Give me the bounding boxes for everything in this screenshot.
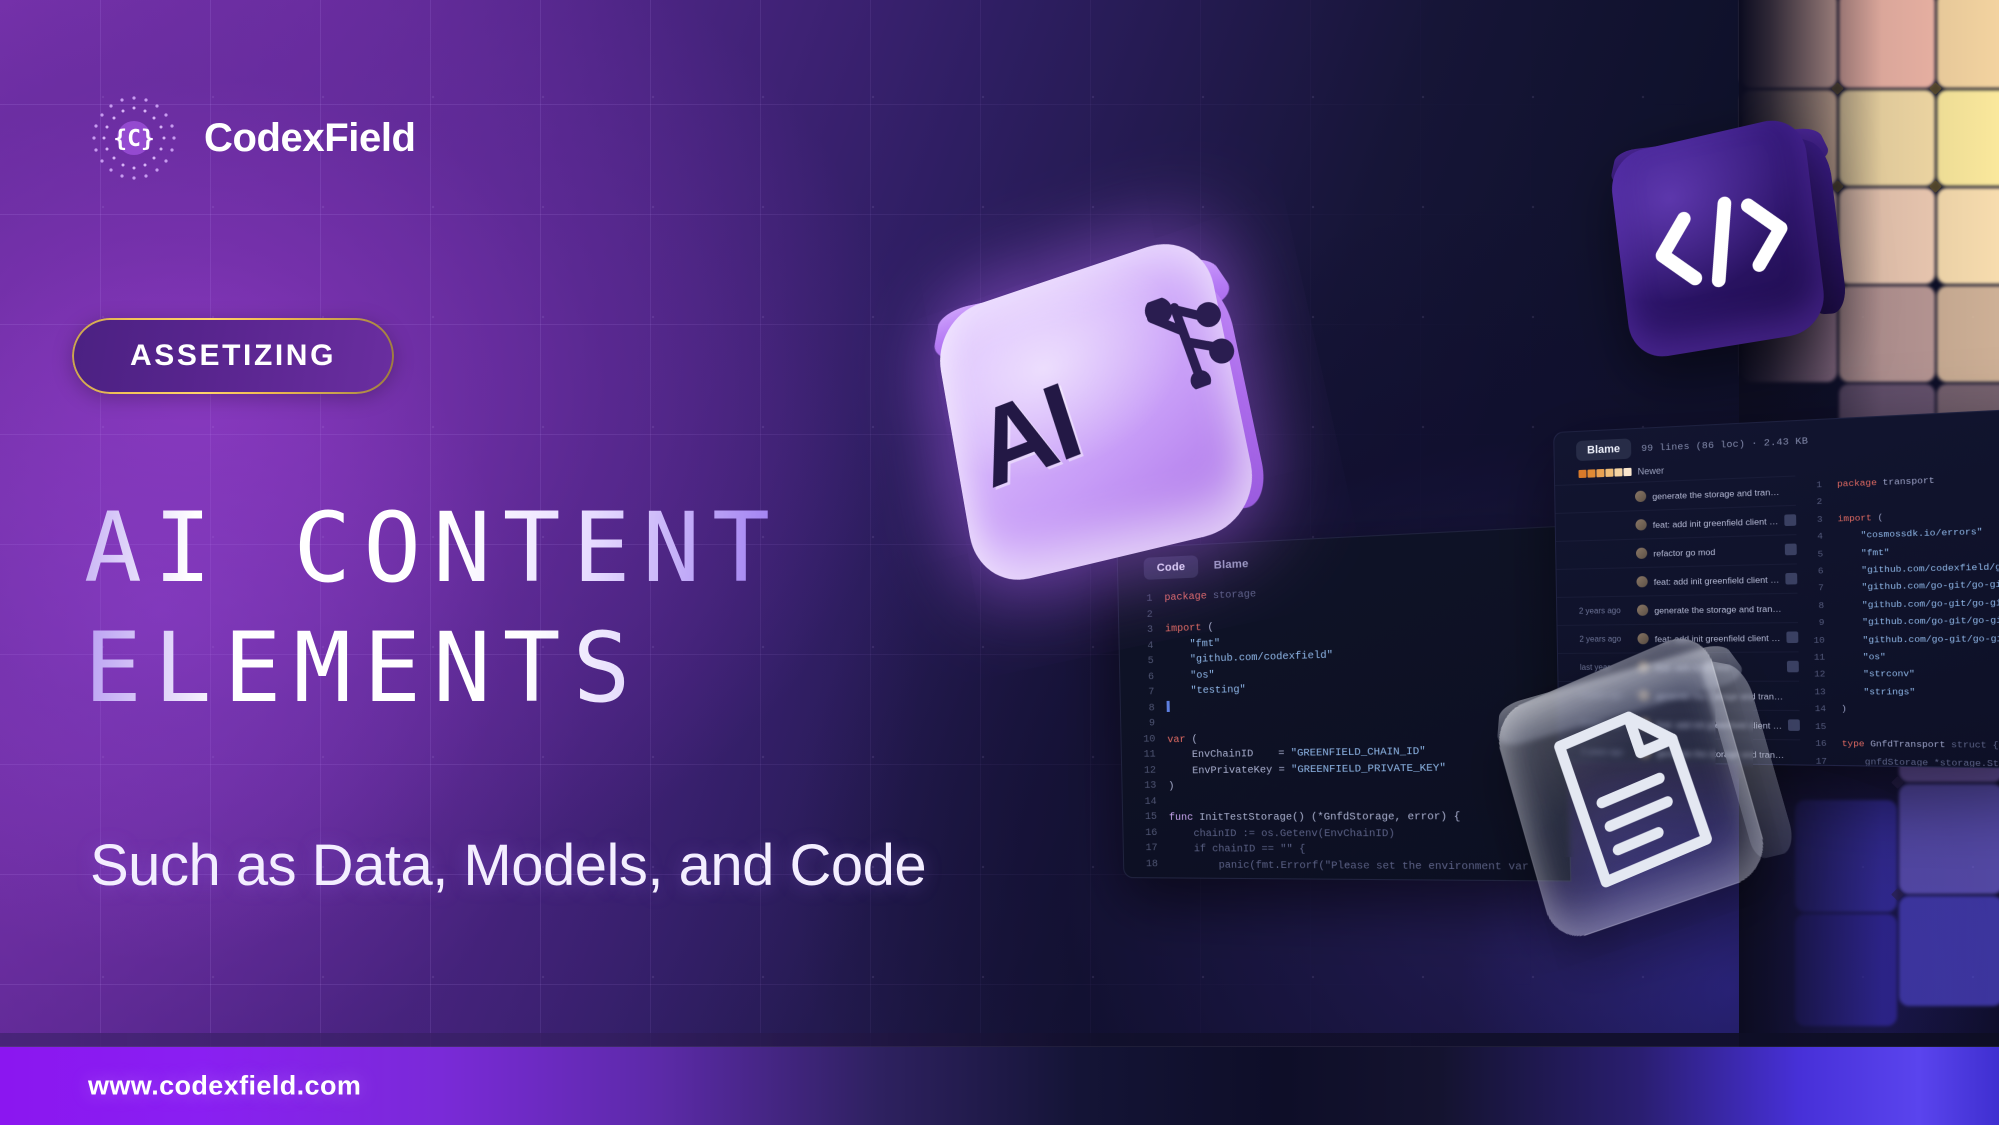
- code-line-numbers: 123456789101112131415161718: [1119, 591, 1171, 873]
- code-cube: [1591, 94, 1872, 375]
- blame-row-message: feat: add init greenfield client …: [1653, 515, 1779, 529]
- blame-row-age: [1578, 554, 1630, 555]
- blame-row-age: [1577, 525, 1629, 527]
- blame-legend-label: Newer: [1638, 465, 1665, 476]
- footer-bar: www.codexfield.com: [0, 1047, 1999, 1125]
- avatar: [1635, 519, 1646, 531]
- commit-link-icon[interactable]: [1786, 573, 1798, 585]
- footer-divider: [0, 1033, 1999, 1047]
- blame-row-message: generate the storage and tran…: [1652, 485, 1796, 501]
- assetizing-badge: ASSETIZING: [72, 318, 394, 394]
- commit-link-icon[interactable]: [1788, 719, 1800, 731]
- commit-link-icon[interactable]: [1785, 544, 1797, 556]
- brand-logo-row: {C} CodexField: [88, 92, 416, 184]
- poster-canvas: Code Blame 123456789101112131415161718 p…: [0, 0, 1999, 1125]
- avatar: [1635, 491, 1646, 503]
- blame-row-message: feat: add init greenfield client …: [1654, 574, 1780, 587]
- ai-cube: AI: [887, 192, 1314, 619]
- commit-link-icon[interactable]: [1787, 631, 1799, 643]
- badge-label: ASSETIZING: [130, 339, 336, 373]
- blame-code-column: 1package transport 2 3import ( 4 "cosmos…: [1796, 464, 1999, 770]
- blame-age-swatches: [1578, 468, 1631, 478]
- blame-row-age: [1578, 582, 1630, 583]
- avatar: [1637, 605, 1648, 616]
- commit-link-icon[interactable]: [1785, 514, 1797, 526]
- subtitle: Such as Data, Models, and Code: [90, 832, 926, 899]
- tab-blame-active[interactable]: Blame: [1576, 438, 1631, 461]
- commit-link-icon[interactable]: [1787, 661, 1799, 673]
- svg-text:{C}: {C}: [113, 126, 155, 152]
- headline-line-2: ELEMENTS: [84, 608, 782, 728]
- blame-row-message: refactor go mod: [1653, 545, 1779, 559]
- avatar: [1636, 548, 1647, 559]
- blame-row-age: [1577, 497, 1629, 499]
- blame-file-meta: 99 lines (86 loc) · 2.43 KB: [1641, 435, 1808, 454]
- codexfield-logo-icon: {C}: [88, 92, 180, 184]
- headline-line-1: AI CONTENT: [84, 488, 782, 608]
- footer-website-url[interactable]: www.codexfield.com: [88, 1071, 361, 1102]
- brand-name: CodexField: [204, 116, 416, 161]
- page-title: AI CONTENT ELEMENTS: [84, 488, 782, 728]
- blame-row-age: 2 years ago: [1579, 606, 1631, 616]
- avatar: [1636, 576, 1647, 587]
- blame-row[interactable]: feat: add init greenfield client …: [1557, 563, 1798, 597]
